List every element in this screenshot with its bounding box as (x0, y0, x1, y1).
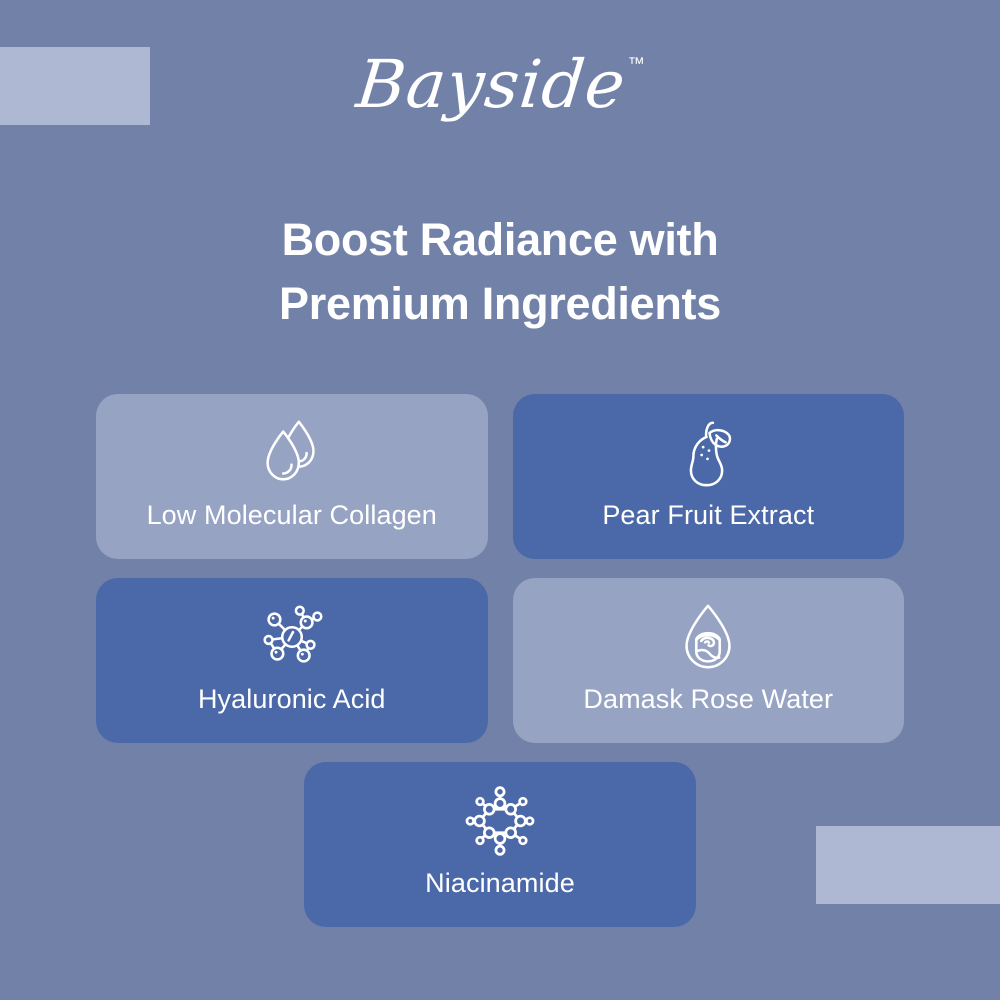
ingredient-label: Hyaluronic Acid (198, 683, 386, 715)
ingredient-card-damask-rose-water[interactable]: Damask Rose Water (513, 578, 905, 743)
ingredient-label: Pear Fruit Extract (602, 499, 814, 531)
ingredient-card-hyaluronic-acid[interactable]: Hyaluronic Acid (96, 578, 488, 743)
ingredient-card-niacinamide[interactable]: Niacinamide (304, 762, 696, 927)
ingredient-highlight-poster: Bayside™ Boost Radiance with Premium Ing… (0, 0, 1000, 1000)
card-row-2: Hyaluronic Acid Damask Rose Water (96, 578, 904, 743)
ingredient-label: Niacinamide (425, 867, 575, 899)
trademark-symbol: ™ (628, 54, 645, 74)
card-row-1: Low Molecular Collagen Pea (96, 394, 904, 559)
brand-wordmark: Bayside (354, 52, 629, 118)
hexagon-molecule-icon (461, 781, 539, 861)
ingredient-card-pear-fruit-extract[interactable]: Pear Fruit Extract (513, 394, 905, 559)
water-droplets-icon (253, 413, 331, 493)
ingredient-card-low-molecular-collagen[interactable]: Low Molecular Collagen (96, 394, 488, 559)
ingredient-card-grid: Low Molecular Collagen Pea (96, 394, 904, 946)
ingredient-label: Damask Rose Water (583, 683, 833, 715)
brand-logo: Bayside™ (0, 38, 1000, 148)
page-title: Boost Radiance with Premium Ingredients (0, 208, 1000, 336)
ingredient-label: Low Molecular Collagen (147, 499, 437, 531)
molecule-node-icon (253, 597, 331, 677)
card-row-3: Niacinamide (96, 762, 904, 927)
headline-line-2: Premium Ingredients (0, 272, 1000, 336)
pear-fruit-icon (669, 413, 747, 493)
rose-droplet-icon (669, 597, 747, 677)
headline-line-1: Boost Radiance with (0, 208, 1000, 272)
